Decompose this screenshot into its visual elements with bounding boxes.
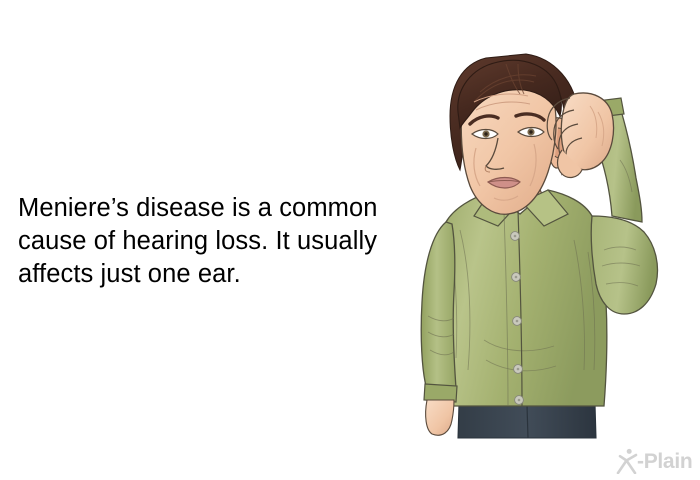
- left-cuff: [424, 384, 457, 402]
- left-hand: [426, 400, 454, 435]
- image-canvas: Meniere’s disease is a common cause of h…: [0, 0, 700, 480]
- figure-group: [421, 54, 657, 438]
- man-cupping-ear-illustration: [398, 40, 688, 440]
- left-arm: [421, 222, 457, 435]
- caption-line-2: cause of hearing loss. It usually: [18, 225, 430, 258]
- shirt-button: [511, 232, 520, 241]
- left-sleeve: [421, 222, 456, 388]
- caption-text-block: Meniere’s disease is a common cause of h…: [18, 192, 430, 291]
- caption-line-1: Meniere’s disease is a common: [18, 192, 430, 225]
- illustration-svg: [398, 40, 688, 440]
- shirt-button: [514, 365, 523, 374]
- caption-line-3: affects just one ear.: [18, 258, 430, 291]
- shirt-button: [512, 273, 521, 282]
- xplain-logo: -Plain: [616, 446, 696, 476]
- logo-wordmark: -Plain: [637, 451, 692, 472]
- shirt-button: [513, 317, 522, 326]
- shirt-button: [515, 396, 524, 405]
- right-sleeve-upper: [591, 216, 657, 314]
